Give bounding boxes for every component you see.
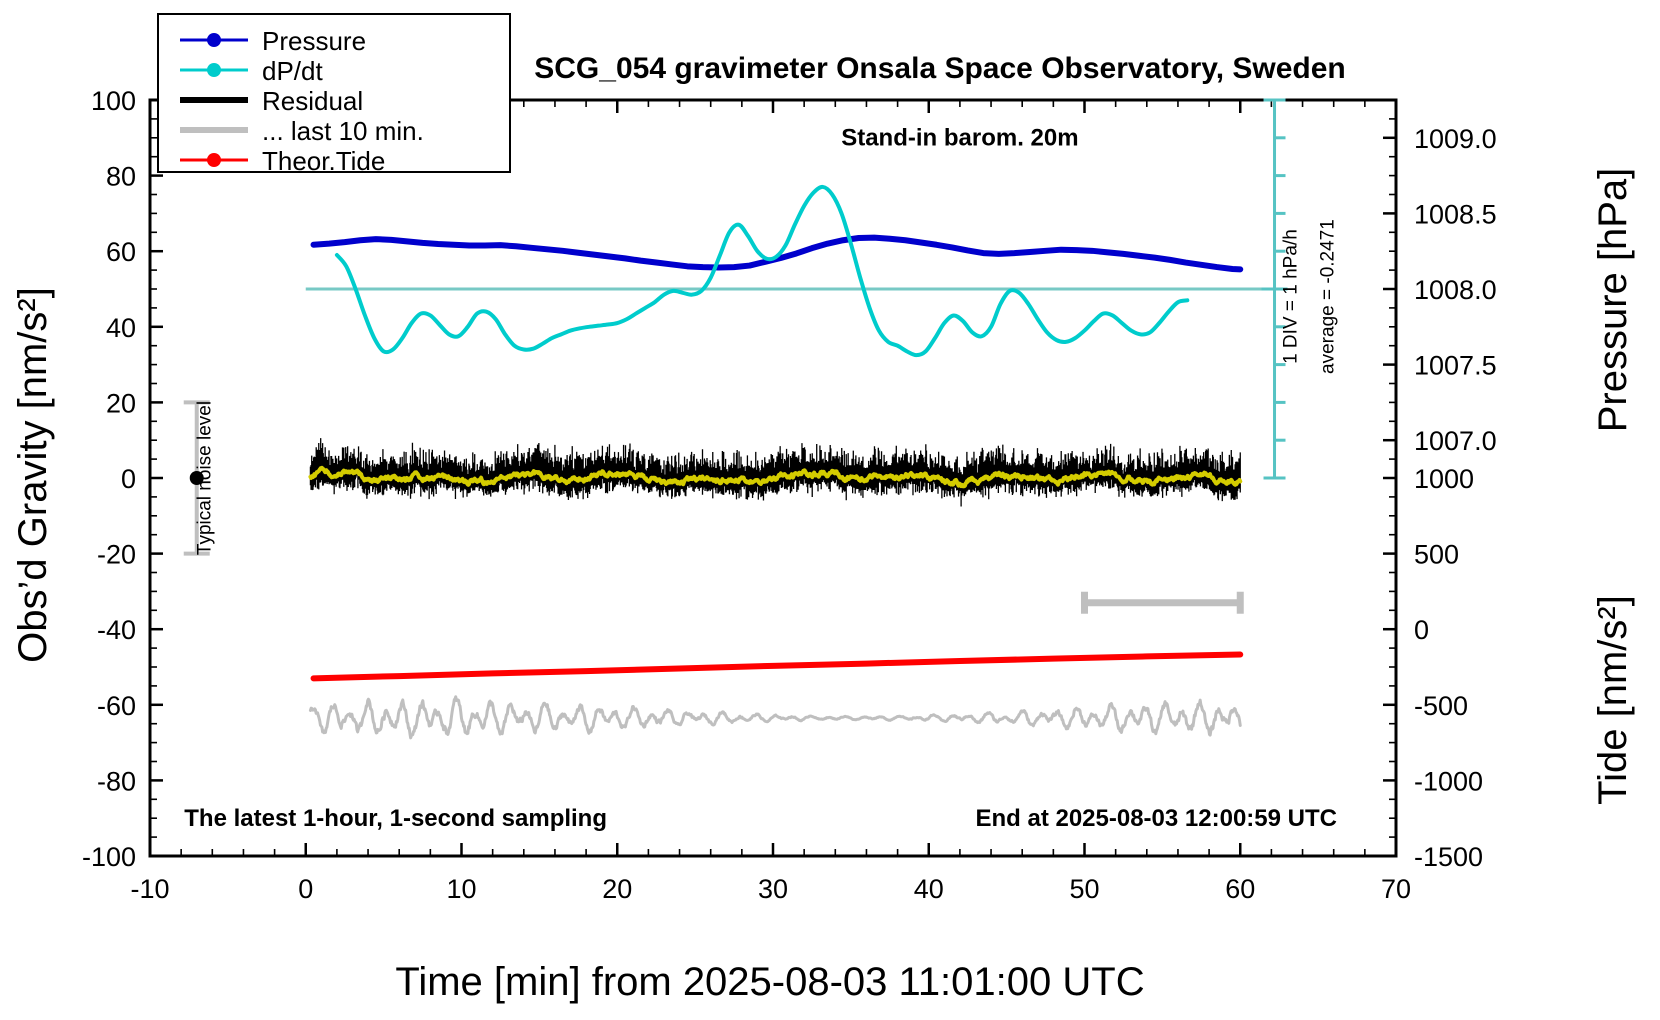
y-tick-label: 80 bbox=[106, 162, 136, 192]
y-tick-label: -100 bbox=[82, 842, 136, 872]
legend-item-label: dP/dt bbox=[262, 56, 323, 86]
legend[interactable]: PressuredP/dtResidual... last 10 min.The… bbox=[158, 14, 510, 176]
right-tide-tick-label: 1000 bbox=[1414, 464, 1474, 494]
y-tick-label: 40 bbox=[106, 313, 136, 343]
right-tide-tick-label: -1000 bbox=[1414, 766, 1483, 796]
right-pressure-tick-label: 1007.5 bbox=[1414, 351, 1497, 381]
y-tick-label: -20 bbox=[97, 540, 136, 570]
gravimeter-plot-page: -10010203040506070-100-80-60-40-20020406… bbox=[0, 0, 1660, 1020]
x-tick-label: 0 bbox=[298, 874, 313, 904]
right-pressure-tick-label: 1007.0 bbox=[1414, 426, 1497, 456]
x-tick-label: 50 bbox=[1069, 874, 1099, 904]
legend-marker-dot bbox=[207, 63, 221, 77]
page-title: SCG_054 gravimeter Onsala Space Observat… bbox=[534, 52, 1346, 85]
dpdt-average-label: average = -0.2471 bbox=[1318, 219, 1339, 374]
y-tick-label: -60 bbox=[97, 691, 136, 721]
x-tick-label: 20 bbox=[602, 874, 632, 904]
x-tick-label: 30 bbox=[758, 874, 788, 904]
right-pressure-tick-label: 1009.0 bbox=[1414, 124, 1497, 154]
y-tick-label: 0 bbox=[121, 464, 136, 494]
right-tide-tick-label: 500 bbox=[1414, 540, 1459, 570]
right-pressure-tick-label: 1008.5 bbox=[1414, 199, 1497, 229]
x-tick-label: 60 bbox=[1225, 874, 1255, 904]
gravimeter-chart: -10010203040506070-100-80-60-40-20020406… bbox=[0, 0, 1660, 1020]
legend-marker-dot bbox=[207, 153, 221, 167]
right-pressure-tick-label: 1008.0 bbox=[1414, 275, 1497, 305]
div-scale-label: 1 DIV = 1 hPa/h bbox=[1280, 229, 1301, 364]
y-axis-title: Obs’d Gravity [nm/s²] bbox=[11, 287, 55, 663]
y-tick-label: 60 bbox=[106, 237, 136, 267]
sampling-note: The latest 1-hour, 1-second sampling bbox=[184, 805, 607, 832]
x-tick-label: 70 bbox=[1381, 874, 1411, 904]
legend-marker-dot bbox=[207, 33, 221, 47]
legend-item-label: Pressure bbox=[262, 26, 366, 56]
legend-item-label: Theor.Tide bbox=[262, 146, 385, 176]
x-tick-label: -10 bbox=[130, 874, 169, 904]
y-tick-label: 100 bbox=[91, 86, 136, 116]
x-tick-label: 40 bbox=[914, 874, 944, 904]
right-tide-tick-label: -1500 bbox=[1414, 842, 1483, 872]
right-tide-tick-label: 0 bbox=[1414, 615, 1429, 645]
y-tick-label: -40 bbox=[97, 615, 136, 645]
legend-item-label: ... last 10 min. bbox=[262, 116, 424, 146]
y-tick-label: 20 bbox=[106, 388, 136, 418]
x-axis-title: Time [min] from 2025-08-03 11:01:00 UTC bbox=[395, 960, 1144, 1004]
y-tick-label: -80 bbox=[97, 766, 136, 796]
legend-item-label: Residual bbox=[262, 86, 363, 116]
x-tick-label: 10 bbox=[446, 874, 476, 904]
right-pressure-axis-title: Pressure [hPa] bbox=[1591, 168, 1635, 433]
end-time-note: End at 2025-08-03 12:00:59 UTC bbox=[975, 805, 1337, 832]
noise-level-label: Typical noise level bbox=[195, 401, 216, 555]
right-tide-tick-label: -500 bbox=[1414, 691, 1468, 721]
right-tide-axis-title: Tide [nm/s²] bbox=[1591, 595, 1635, 805]
standin-barom-note: Stand-in barom. 20m bbox=[841, 124, 1078, 151]
